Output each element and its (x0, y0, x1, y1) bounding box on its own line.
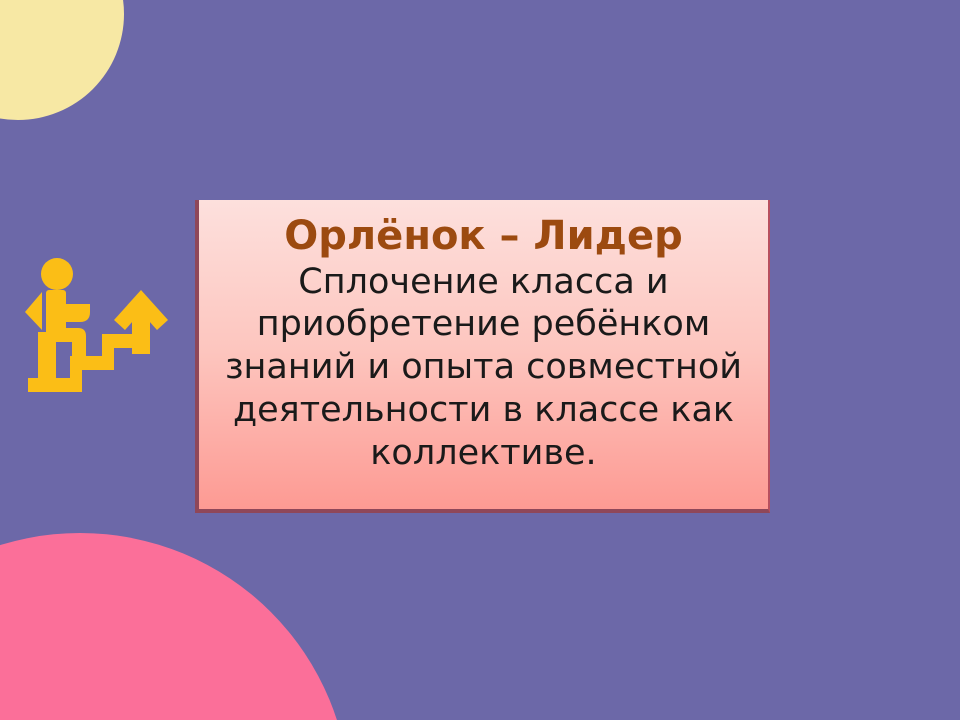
pale-yellow-circle-decoration (0, 0, 124, 120)
card-body-line: коллективе. (225, 432, 742, 475)
slide-canvas: Орлёнок – Лидер Сплочение класса и приоб… (0, 0, 960, 720)
content-card: Орлёнок – Лидер Сплочение класса и приоб… (195, 200, 770, 513)
pink-circle-decoration (0, 533, 350, 720)
card-body-line: Сплочение класса и (225, 261, 742, 304)
card-body-line: приобретение ребёнком (225, 303, 742, 346)
card-body-line: знаний и опыта совместной (225, 346, 742, 389)
diagonal-stripes-decoration (0, 683, 110, 720)
card-title: Орлёнок – Лидер (284, 214, 683, 259)
person-climbing-stairs-up-arrow-icon (18, 252, 180, 408)
card-body-line: деятельности в классе как (225, 389, 742, 432)
card-body: Сплочение класса и приобретение ребёнком… (225, 261, 742, 474)
